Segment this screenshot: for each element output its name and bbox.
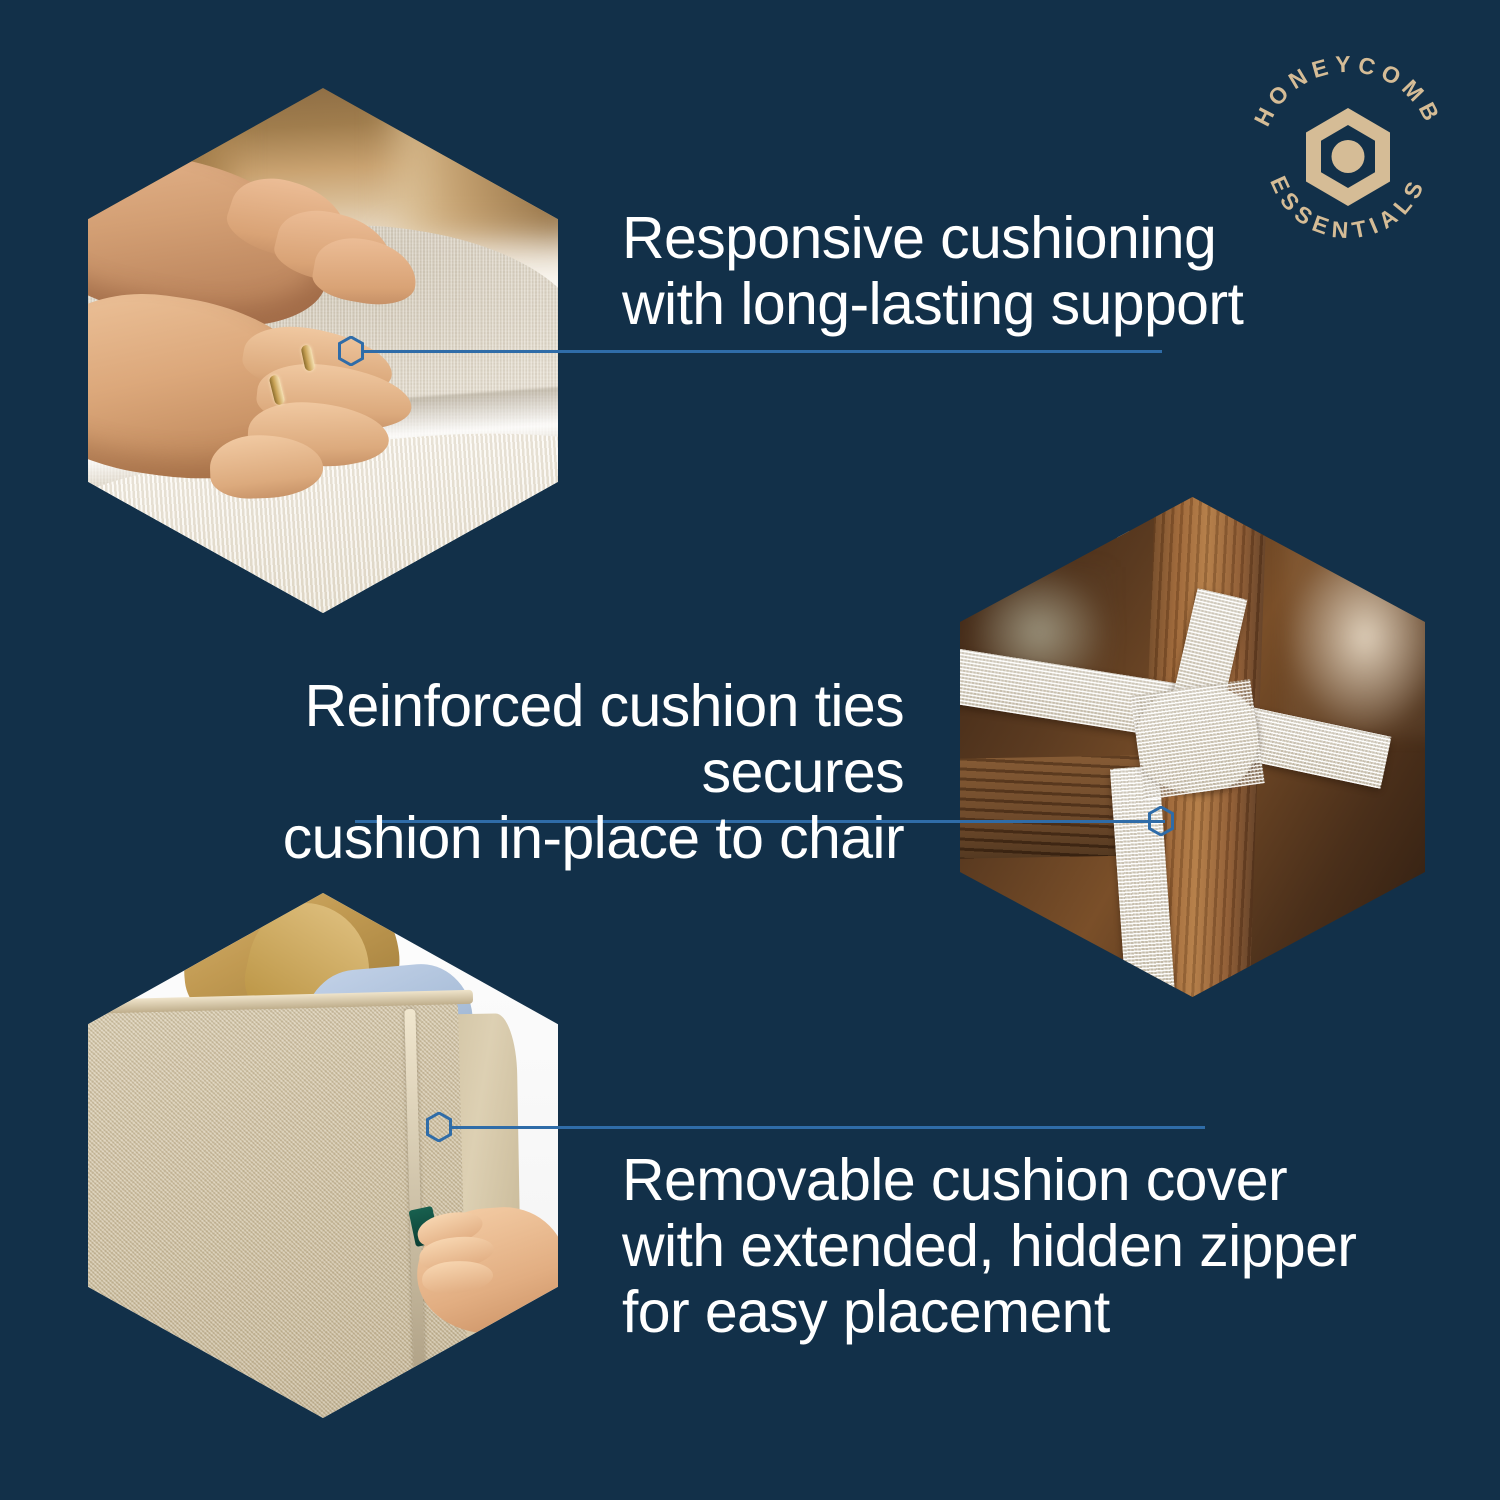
hexagon-node-icon-2 [1148, 806, 1174, 836]
light-patch-right [1286, 537, 1426, 737]
callout-connector-line-3 [450, 1126, 1205, 1129]
hexagon-mark-icon [1306, 108, 1390, 206]
hexagon-node-icon-3 [426, 1112, 452, 1142]
feature-photo-removable-cover [88, 893, 558, 1418]
photo-unzipping-cushion-cover [88, 893, 558, 1418]
callout-connector-line-1 [362, 350, 1162, 353]
wood-blur-right [398, 88, 558, 240]
brand-logo: HONEYCOMB ESSENTIALS [1237, 46, 1459, 268]
feature-photo-reinforced-ties [960, 497, 1425, 997]
cushion-tie-knot [1130, 679, 1264, 800]
product-feature-infographic: Responsive cushioning with long-lasting … [0, 0, 1500, 1500]
tie-weave-texture [1130, 679, 1264, 800]
hexagon-node-icon-1 [338, 336, 364, 366]
callout-text-reinforced-ties: Reinforced cushion ties secures cushion … [92, 673, 904, 871]
callout-text-responsive-cushioning: Responsive cushioning with long-lasting … [622, 205, 1243, 337]
photo-tie-knot-on-chair-leg [960, 497, 1425, 997]
callout-text-removable-cover: Removable cushion cover with extended, h… [622, 1147, 1356, 1345]
